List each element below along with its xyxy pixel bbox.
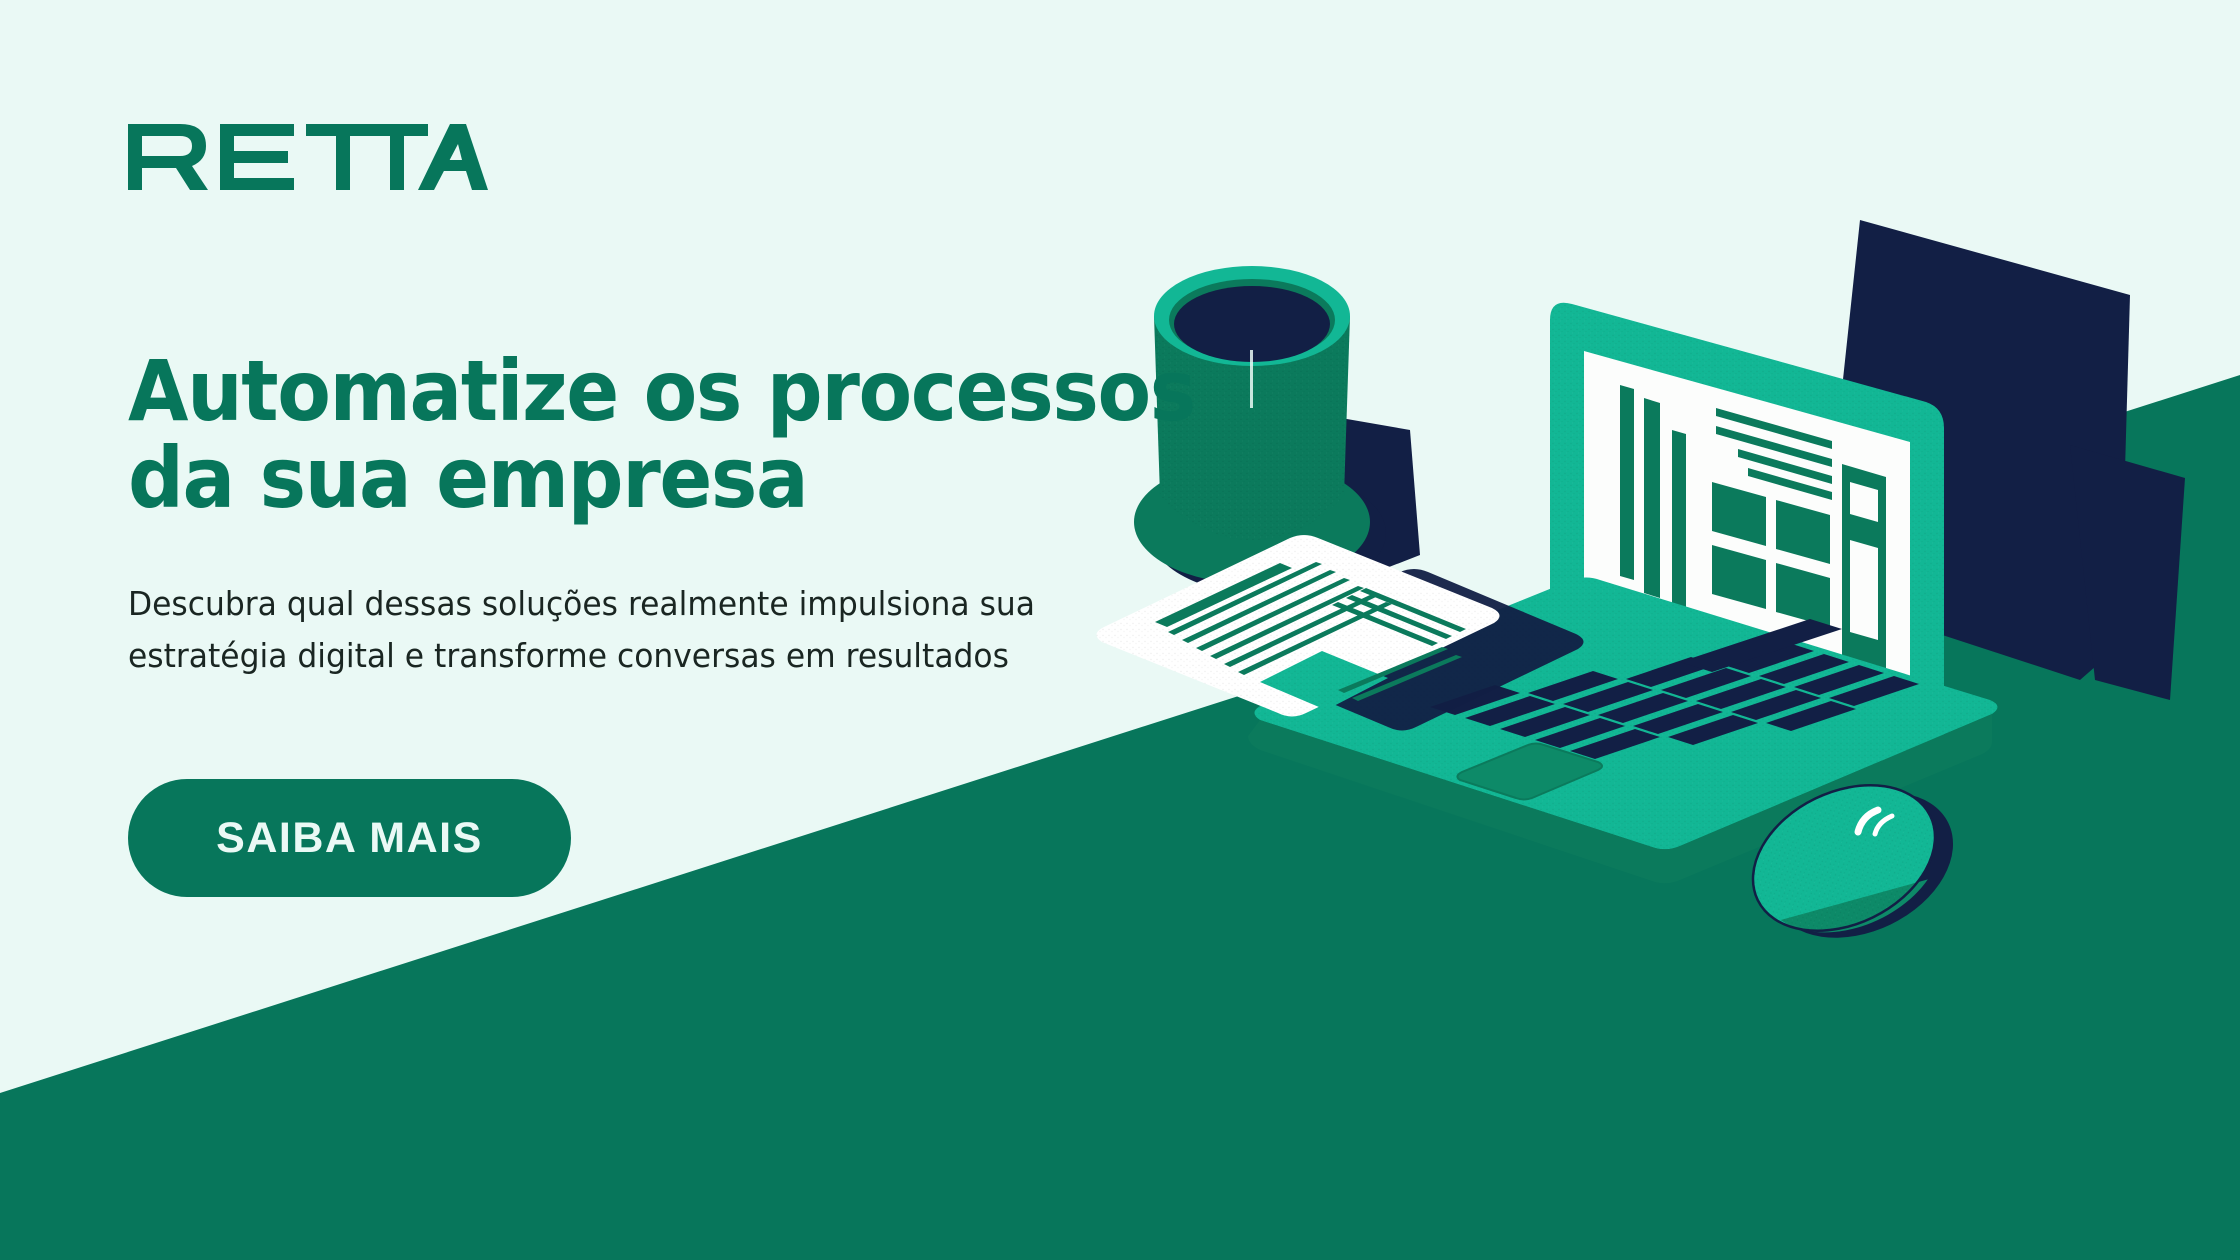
hero-content: Automatize os processos da sua empresa D… [128,0,1248,1260]
hero-subtitle: Descubra qual dessas soluções realmente … [128,578,1088,682]
retta-wordmark-logo [128,118,488,196]
isometric-workspace-illustration [1120,250,2240,1050]
headline-line-2: da sua empresa [128,435,1207,522]
page-headline: Automatize os processos da sua empresa [128,348,1207,523]
marketing-banner: Automatize os processos da sua empresa D… [0,0,2240,1260]
headline-line-1: Automatize os processos [128,342,1195,440]
saiba-mais-button[interactable]: SAIBA MAIS [128,779,571,897]
